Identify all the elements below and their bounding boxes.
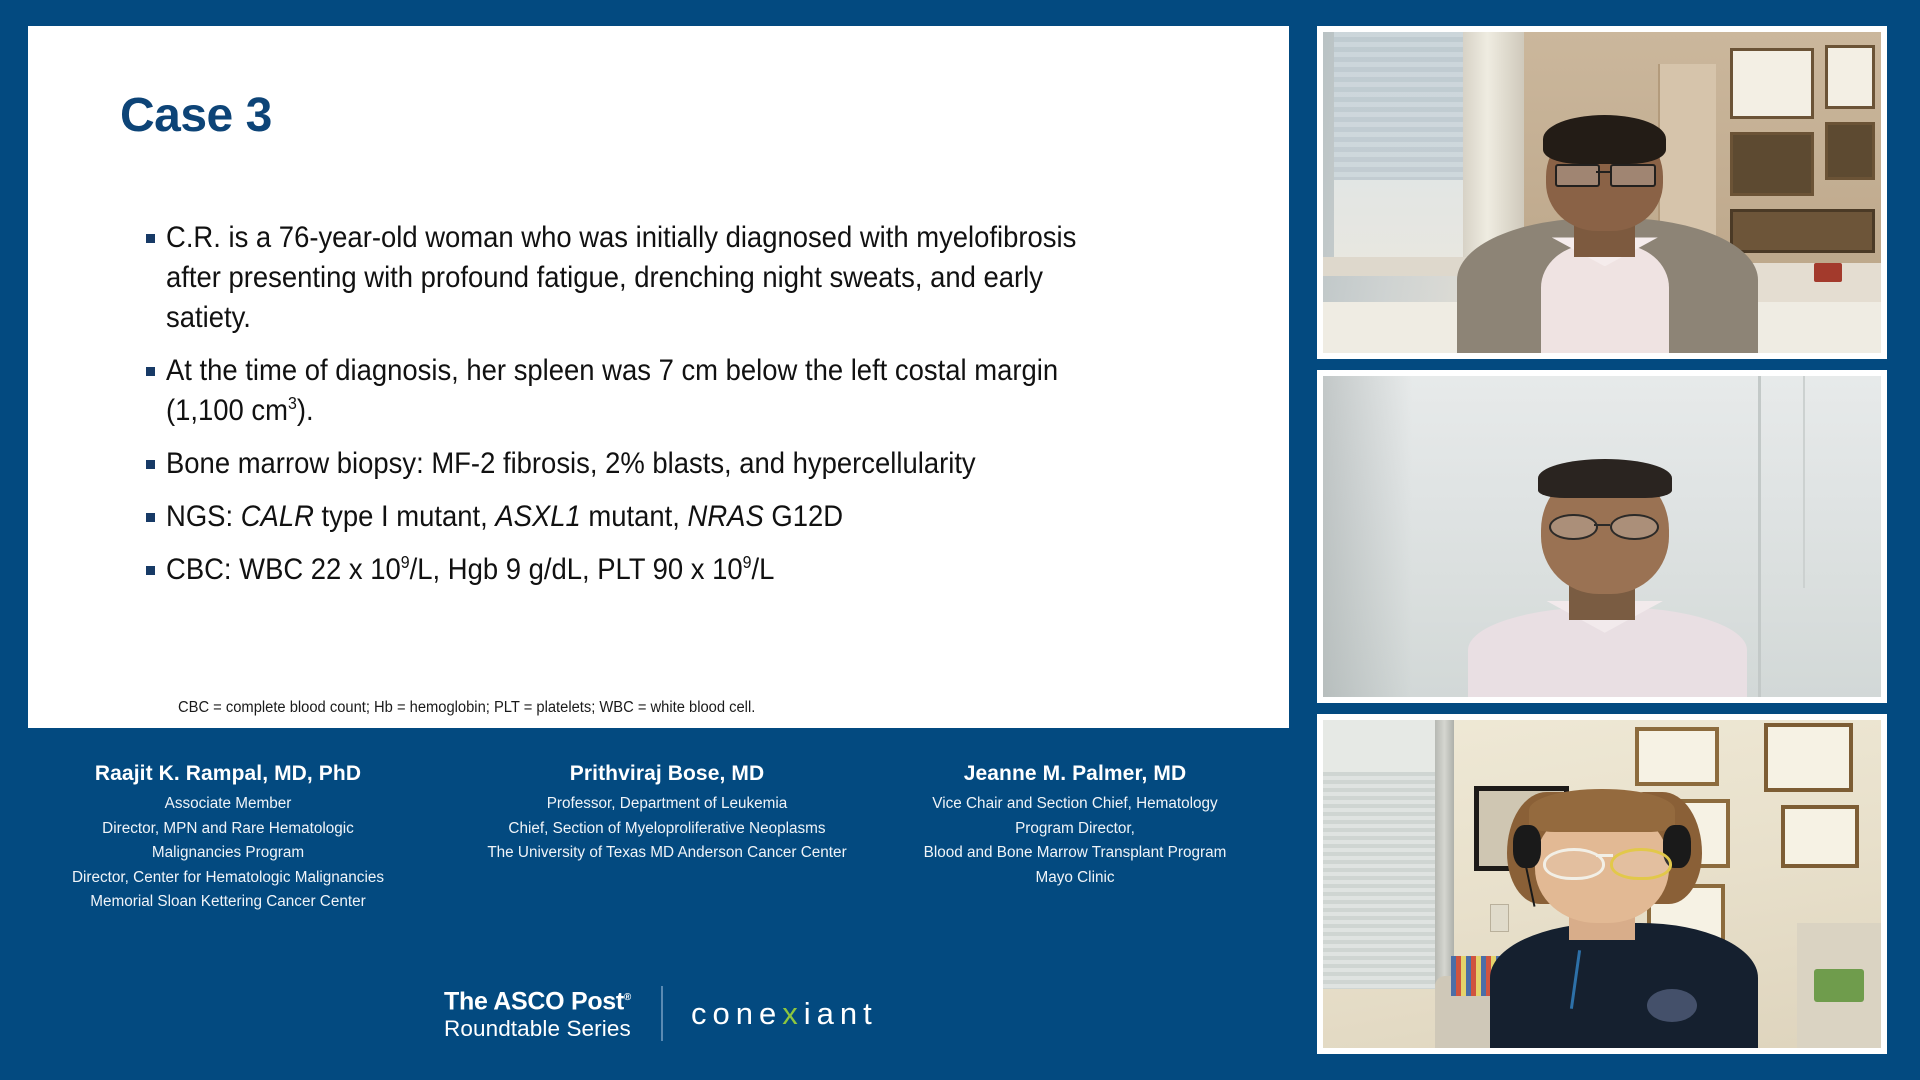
scene-wall-frame: [1825, 45, 1875, 109]
square-bullet-icon: [146, 460, 155, 469]
presenter-line: Mayo Clinic: [880, 866, 1270, 891]
bullet-list: C.R. is a 76-year-old woman who was init…: [146, 218, 1206, 603]
presenter-line: Professor, Department of Leukemia: [472, 792, 862, 817]
video-scene: [1323, 720, 1881, 1048]
person-shirt-logo: [1647, 989, 1697, 1022]
scene-wall-frame: [1730, 48, 1814, 119]
bullet-text-ngs: NGS: CALR type I mutant, ASXL1 mutant, N…: [166, 497, 1133, 537]
bullet-item-cbc: CBC: WBC 22 x 109/L, Hgb 9 g/dL, PLT 90 …: [146, 550, 1206, 590]
scene-certificate: [1781, 805, 1859, 867]
video-feed-participant-3: [1323, 720, 1881, 1048]
video-tile-participant-1[interactable]: [1317, 26, 1887, 359]
eyeglasses-bridge: [1596, 171, 1610, 173]
slide-card: Case 3 C.R. is a 76-year-old woman who w…: [28, 26, 1289, 728]
bullet-item-spleen: At the time of diagnosis, her spleen was…: [146, 351, 1206, 431]
scene-shadow: [1323, 376, 1412, 697]
presenter-line: The University of Texas MD Anderson Canc…: [472, 841, 862, 866]
presenter-line: Associate Member: [28, 792, 428, 817]
video-scene: [1323, 32, 1881, 353]
eyeglasses-icon: [1549, 514, 1598, 540]
presenter-line: Memorial Sloan Kettering Cancer Center: [28, 890, 428, 915]
bullet-text-cbc: CBC: WBC 22 x 109/L, Hgb 9 g/dL, PLT 90 …: [166, 550, 1133, 590]
bullet-text-spleen: At the time of diagnosis, her spleen was…: [166, 351, 1133, 431]
video-tile-participant-3[interactable]: [1317, 714, 1887, 1054]
presenter-line: Director, Center for Hematologic Maligna…: [28, 866, 428, 891]
square-bullet-icon: [146, 367, 155, 376]
scene-wall-plaque: [1730, 132, 1814, 196]
eyeglasses-icon: [1610, 164, 1656, 187]
scene-blind-header: [1323, 720, 1440, 772]
presenter-block-palmer: Jeanne M. Palmer, MD Vice Chair and Sect…: [880, 762, 1270, 890]
conexiant-prefix: cone: [691, 996, 782, 1031]
asco-logo-primary-text: The ASCO Post: [444, 987, 624, 1015]
eyeglasses-icon: [1555, 164, 1601, 187]
conexiant-accent-letter: x: [782, 996, 804, 1031]
page-title: Case 3: [120, 88, 272, 143]
presenter-credentials-row: Raajit K. Rampal, MD, PhD Associate Memb…: [20, 762, 1290, 915]
presenter-block-bose: Prithviraj Bose, MD Professor, Departmen…: [472, 762, 862, 866]
headset-icon: [1513, 825, 1541, 868]
square-bullet-icon: [146, 513, 155, 522]
scene-certificate: [1764, 723, 1853, 792]
eyeglasses-bridge: [1594, 524, 1611, 526]
eyeglasses-icon: [1610, 848, 1672, 880]
conexiant-logo: conexiant: [691, 996, 878, 1032]
registered-trademark-icon: ®: [624, 992, 631, 1003]
scene-wall-plaque: [1730, 209, 1875, 254]
person-torso: [1490, 923, 1758, 1048]
person-hair: [1543, 115, 1666, 163]
video-scene: [1323, 376, 1881, 697]
presenter-line: Blood and Bone Marrow Transplant Program: [880, 841, 1270, 866]
abbreviation-footnote: CBC = complete blood count; Hb = hemoglo…: [178, 699, 755, 717]
eyeglasses-bridge: [1596, 854, 1613, 857]
logo-divider: [661, 986, 663, 1041]
square-bullet-icon: [146, 234, 155, 243]
asco-post-logo: The ASCO Post® Roundtable Series: [444, 984, 631, 1043]
scene-wall-edge: [1758, 376, 1761, 697]
person-hair: [1529, 789, 1674, 832]
bullet-text-history: C.R. is a 76-year-old woman who was init…: [166, 218, 1133, 338]
bullet-item-history: C.R. is a 76-year-old woman who was init…: [146, 218, 1206, 338]
scene-certificate: [1635, 727, 1719, 786]
conexiant-suffix: iant: [804, 996, 878, 1031]
asco-logo-primary: The ASCO Post®: [444, 984, 631, 1015]
scene-wall-plaque: [1825, 122, 1875, 180]
scene-object-green: [1814, 969, 1864, 1002]
presenter-name: Prithviraj Bose, MD: [472, 762, 862, 786]
scene-light-switch: [1490, 904, 1509, 932]
logo-bar: The ASCO Post® Roundtable Series conexia…: [444, 984, 878, 1043]
bullet-text-biopsy: Bone marrow biopsy: MF-2 fibrosis, 2% bl…: [166, 444, 1133, 484]
scene-object-red: [1814, 263, 1842, 282]
presenter-line: Vice Chair and Section Chief, Hematology: [880, 792, 1270, 817]
person-hair: [1538, 459, 1672, 498]
presenter-line: Program Director,: [880, 817, 1270, 842]
presenter-name: Raajit K. Rampal, MD, PhD: [28, 762, 428, 786]
presenter-line: Chief, Section of Myeloproliferative Neo…: [472, 817, 862, 842]
bullet-item-biopsy: Bone marrow biopsy: MF-2 fibrosis, 2% bl…: [146, 444, 1206, 484]
video-tile-participant-2[interactable]: [1317, 370, 1887, 703]
presenter-line: Malignancies Program: [28, 841, 428, 866]
presenter-line: Director, MPN and Rare Hematologic: [28, 817, 428, 842]
presenter-name: Jeanne M. Palmer, MD: [880, 762, 1270, 786]
eyeglasses-icon: [1543, 848, 1605, 880]
asco-logo-secondary: Roundtable Series: [444, 1015, 631, 1043]
square-bullet-icon: [146, 566, 155, 575]
presenter-block-rampal: Raajit K. Rampal, MD, PhD Associate Memb…: [28, 762, 428, 915]
video-feed-participant-1: [1323, 32, 1881, 353]
presentation-stage: Case 3 C.R. is a 76-year-old woman who w…: [0, 0, 1920, 1080]
video-feed-participant-2: [1323, 376, 1881, 697]
scene-wall-edge: [1803, 376, 1805, 588]
bullet-item-ngs: NGS: CALR type I mutant, ASXL1 mutant, N…: [146, 497, 1206, 537]
